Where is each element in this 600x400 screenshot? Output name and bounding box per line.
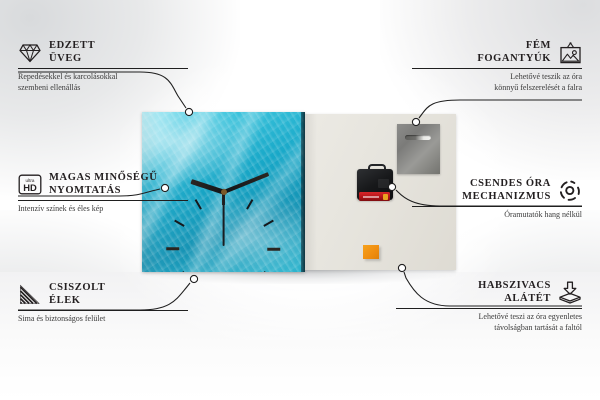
clock-center-cap	[221, 189, 227, 195]
polished-edges-icon	[18, 283, 42, 307]
divider	[18, 310, 188, 311]
feature-description-line1: Intenzív színek és éles kép	[18, 204, 188, 215]
clock-tick	[194, 199, 201, 210]
clock-mechanism	[357, 164, 393, 200]
feature-title-line2: ÉLEK	[49, 295, 105, 308]
feature-description-line1: Repedésekkel és karcolásokkal	[18, 72, 188, 83]
clock-minute-hand	[223, 172, 269, 194]
battery	[359, 192, 390, 201]
foam-pad	[363, 245, 379, 259]
feature-title-line2: MECHANIZMUS	[462, 191, 551, 204]
feature-title-line2: ÜVEG	[49, 53, 95, 66]
mechanism-body	[357, 169, 393, 200]
feature-title-line1: FÉM	[477, 40, 551, 53]
product-image	[142, 112, 458, 274]
feature-title-line2: NYOMTATÁS	[49, 185, 157, 198]
feature-header: EDZETT ÜVEG	[18, 40, 188, 65]
feature-header: FÉM FOGANTYÚK	[412, 40, 582, 65]
gear-icon	[558, 179, 582, 203]
feature-title-line1: CSENDES ÓRA	[462, 178, 551, 191]
feature-title-line2: ALÁTÉT	[478, 293, 551, 306]
divider	[396, 308, 582, 309]
svg-text:HD: HD	[23, 182, 37, 193]
feature-description-line2: könnyű felszerelését a falra	[412, 83, 582, 94]
feature-foam-backing: HABSZIVACS ALÁTÉT Lehetővé teszi az óra …	[396, 280, 582, 333]
feature-description-line1: Óramutatók hang nélkül	[412, 210, 582, 221]
feature-title-line2: FOGANTYÚK	[477, 53, 551, 66]
clock-hour-hand	[190, 179, 224, 194]
clock-tick	[174, 220, 185, 227]
feature-description-line2: szembeni ellenállás	[18, 83, 188, 94]
feature-high-quality-print: ultra HD MAGAS MINŐSÉGŰ NYOMTATÁS Intenz…	[18, 172, 188, 215]
ultra-hd-icon: ultra HD	[18, 173, 42, 197]
feature-title-line1: CSISZOLT	[49, 282, 105, 295]
feature-title-line1: MAGAS MINŐSÉGŰ	[49, 172, 157, 185]
feature-description-line1: Sima és biztonságos felület	[18, 314, 188, 325]
feature-title-line1: EDZETT	[49, 40, 95, 53]
feature-description-line2: távolságban tartását a faltól	[396, 323, 582, 334]
divider	[412, 68, 582, 69]
feature-title-line1: HABSZIVACS	[478, 280, 551, 293]
feature-header: CSENDES ÓRA MECHANIZMUS	[412, 178, 582, 203]
divider	[18, 68, 188, 69]
diamond-icon	[18, 41, 42, 65]
mechanism-detail	[378, 179, 389, 188]
feature-description-line1: Lehetővé teszik az óra	[412, 72, 582, 83]
infographic-page: EDZETT ÜVEG Repedésekkel és karcolásokka…	[0, 0, 600, 400]
feature-silent-mechanism: CSENDES ÓRA MECHANIZMUS Óramutatók hang …	[412, 178, 582, 221]
divider	[412, 206, 582, 207]
metal-hanger-plate	[397, 124, 440, 174]
picture-frame-icon	[558, 41, 582, 65]
clock-second-hand	[223, 192, 225, 246]
feature-description-line1: Lehetővé teszi az óra egyenletes	[396, 312, 582, 323]
feature-metal-handles: FÉM FOGANTYÚK Lehetővé teszik az óra kön…	[412, 40, 582, 93]
feature-tempered-glass: EDZETT ÜVEG Repedésekkel és karcolásokka…	[18, 40, 188, 93]
foam-pad-icon	[558, 281, 582, 305]
clock-tick	[263, 220, 274, 227]
clock-tick	[268, 248, 281, 251]
feature-polished-edges: CSISZOLT ÉLEK Sima és biztonságos felüle…	[18, 282, 188, 325]
clock-tick	[167, 248, 180, 251]
feature-header: HABSZIVACS ALÁTÉT	[396, 280, 582, 305]
divider	[18, 200, 188, 201]
feature-header: CSISZOLT ÉLEK	[18, 282, 188, 307]
feature-header: ultra HD MAGAS MINŐSÉGŰ NYOMTATÁS	[18, 172, 188, 197]
clock-tick	[246, 199, 253, 210]
mechanism-loop	[368, 164, 386, 175]
